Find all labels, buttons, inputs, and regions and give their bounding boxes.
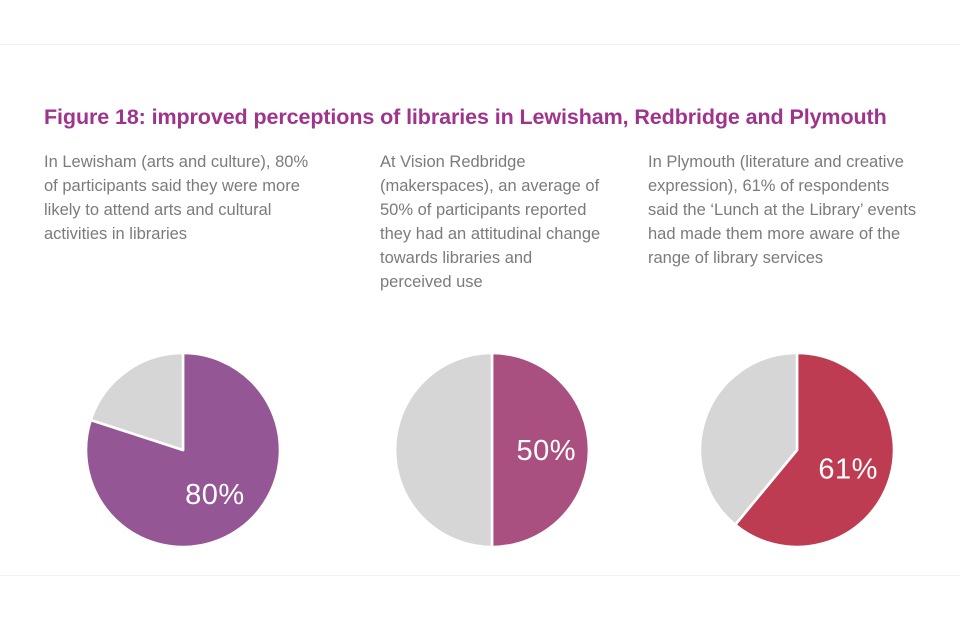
description-text-redbridge: At Vision Redbridge (makerspaces), an av… [380, 150, 606, 294]
description-column-plymouth: In Plymouth (literature and creative exp… [648, 150, 924, 270]
top-divider-rule [0, 44, 960, 45]
bottom-divider-rule [0, 575, 960, 576]
pie-percentage-label: 61% [818, 453, 878, 485]
description-columns: In Lewisham (arts and culture), 80% of p… [44, 150, 924, 294]
pie-chart-plymouth-svg: 61% [697, 350, 897, 550]
description-column-redbridge: At Vision Redbridge (makerspaces), an av… [380, 150, 648, 294]
pie-chart-lewisham: 80% [83, 350, 283, 555]
pie-percentage-label: 50% [517, 435, 577, 467]
figure-container: Figure 18: improved perceptions of libra… [0, 0, 960, 640]
pie-chart-redbridge: 50% [392, 350, 592, 555]
pie-chart-lewisham-svg: 80% [83, 350, 283, 550]
pie-percentage-label: 80% [185, 479, 245, 511]
description-column-lewisham: In Lewisham (arts and culture), 80% of p… [44, 150, 380, 246]
description-text-plymouth: In Plymouth (literature and creative exp… [648, 150, 924, 270]
pie-slice [395, 353, 492, 547]
pie-chart-plymouth: 61% [697, 350, 897, 555]
figure-title: Figure 18: improved perceptions of libra… [44, 105, 924, 130]
description-text-lewisham: In Lewisham (arts and culture), 80% of p… [44, 150, 326, 246]
pie-chart-redbridge-svg: 50% [392, 350, 592, 550]
pie-chart-row: 80% 50% 61% [0, 350, 960, 560]
